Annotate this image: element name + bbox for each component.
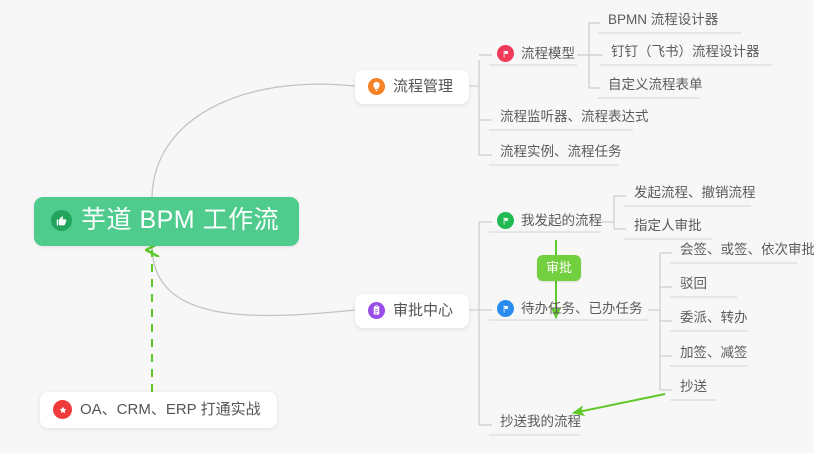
relation-arrow-cc <box>578 394 665 412</box>
leaf-label-reject: 驳回 <box>680 277 707 291</box>
leaf-node-bpmn-designer[interactable]: BPMN 流程设计器 <box>600 13 726 33</box>
star-icon <box>53 400 72 419</box>
leaf-node-todo-done-tasks[interactable]: 待办任务、已办任务 <box>489 300 651 323</box>
leaf-node-reject[interactable]: 驳回 <box>672 277 715 297</box>
edge-root-to-approval-center <box>152 245 355 315</box>
floating-note-label: OA、CRM、ERP 打通实战 <box>80 402 261 417</box>
leaf-node-countersign[interactable]: 会签、或签、依次审批 <box>672 243 814 263</box>
leaf-node-my-started-process[interactable]: 我发起的流程 <box>489 212 610 235</box>
leaf-label-process-model: 流程模型 <box>521 47 575 61</box>
flag-green-icon <box>497 212 514 229</box>
mindmap-canvas: 芋道 BPM 工作流 流程管理 审批中心 OA、CRM、ERP 打通实战 <box>0 0 814 453</box>
leaf-label-cc-to-me: 抄送我的流程 <box>500 415 581 429</box>
leaf-node-instance-task[interactable]: 流程实例、流程任务 <box>492 145 630 165</box>
root-label: 芋道 BPM 工作流 <box>81 208 279 233</box>
leaf-label-todo-done-tasks: 待办任务、已办任务 <box>521 302 643 316</box>
leaf-label-countersign: 会签、或签、依次审批 <box>680 243 814 257</box>
leaf-label-listener-expression: 流程监听器、流程表达式 <box>500 110 649 124</box>
clipboard-icon <box>368 302 385 319</box>
leaf-label-add-remove-sign: 加签、减签 <box>680 346 748 360</box>
branch-node-approval-center[interactable]: 审批中心 <box>355 294 469 328</box>
leaf-node-add-remove-sign[interactable]: 加签、减签 <box>672 346 756 366</box>
edge-root-to-process-management <box>152 84 355 199</box>
leaf-label-bpmn-designer: BPMN 流程设计器 <box>608 13 718 27</box>
leaf-node-cc[interactable]: 抄送 <box>672 380 715 400</box>
leaf-label-cc: 抄送 <box>680 380 707 394</box>
leaf-node-cc-to-me[interactable]: 抄送我的流程 <box>492 415 589 435</box>
leaf-label-instance-task: 流程实例、流程任务 <box>500 145 622 159</box>
leaf-node-delegate-transfer[interactable]: 委派、转办 <box>672 311 756 331</box>
leaf-node-designated-approval[interactable]: 指定人审批 <box>626 219 710 239</box>
leaf-label-delegate-transfer: 委派、转办 <box>680 311 748 325</box>
branch-node-process-management[interactable]: 流程管理 <box>355 70 469 104</box>
leaf-label-designated-approval: 指定人审批 <box>634 219 702 233</box>
flag-blue-icon <box>497 300 514 317</box>
leaf-node-process-model[interactable]: 流程模型 <box>489 45 583 68</box>
lightbulb-icon <box>368 78 385 95</box>
connector-badge-approval[interactable]: 审批 <box>537 255 581 281</box>
thumbs-up-icon <box>51 210 72 231</box>
leaf-label-launch-cancel: 发起流程、撤销流程 <box>634 186 756 200</box>
leaf-node-dingtalk-designer[interactable]: 钉钉（飞书）流程设计器 <box>603 45 768 65</box>
leaf-node-custom-form[interactable]: 自定义流程表单 <box>600 78 711 98</box>
leaf-label-custom-form: 自定义流程表单 <box>608 78 703 92</box>
root-node[interactable]: 芋道 BPM 工作流 <box>34 197 299 246</box>
flag-red-icon <box>497 45 514 62</box>
leaf-node-listener-expression[interactable]: 流程监听器、流程表达式 <box>492 110 657 130</box>
leaf-label-my-started-process: 我发起的流程 <box>521 214 602 228</box>
leaf-node-launch-cancel[interactable]: 发起流程、撤销流程 <box>626 186 764 206</box>
floating-note-integration[interactable]: OA、CRM、ERP 打通实战 <box>40 392 277 428</box>
branch-label-approval-center: 审批中心 <box>393 303 453 318</box>
branch-label-process-management: 流程管理 <box>393 79 453 94</box>
leaf-label-dingtalk-designer: 钉钉（飞书）流程设计器 <box>611 45 760 59</box>
